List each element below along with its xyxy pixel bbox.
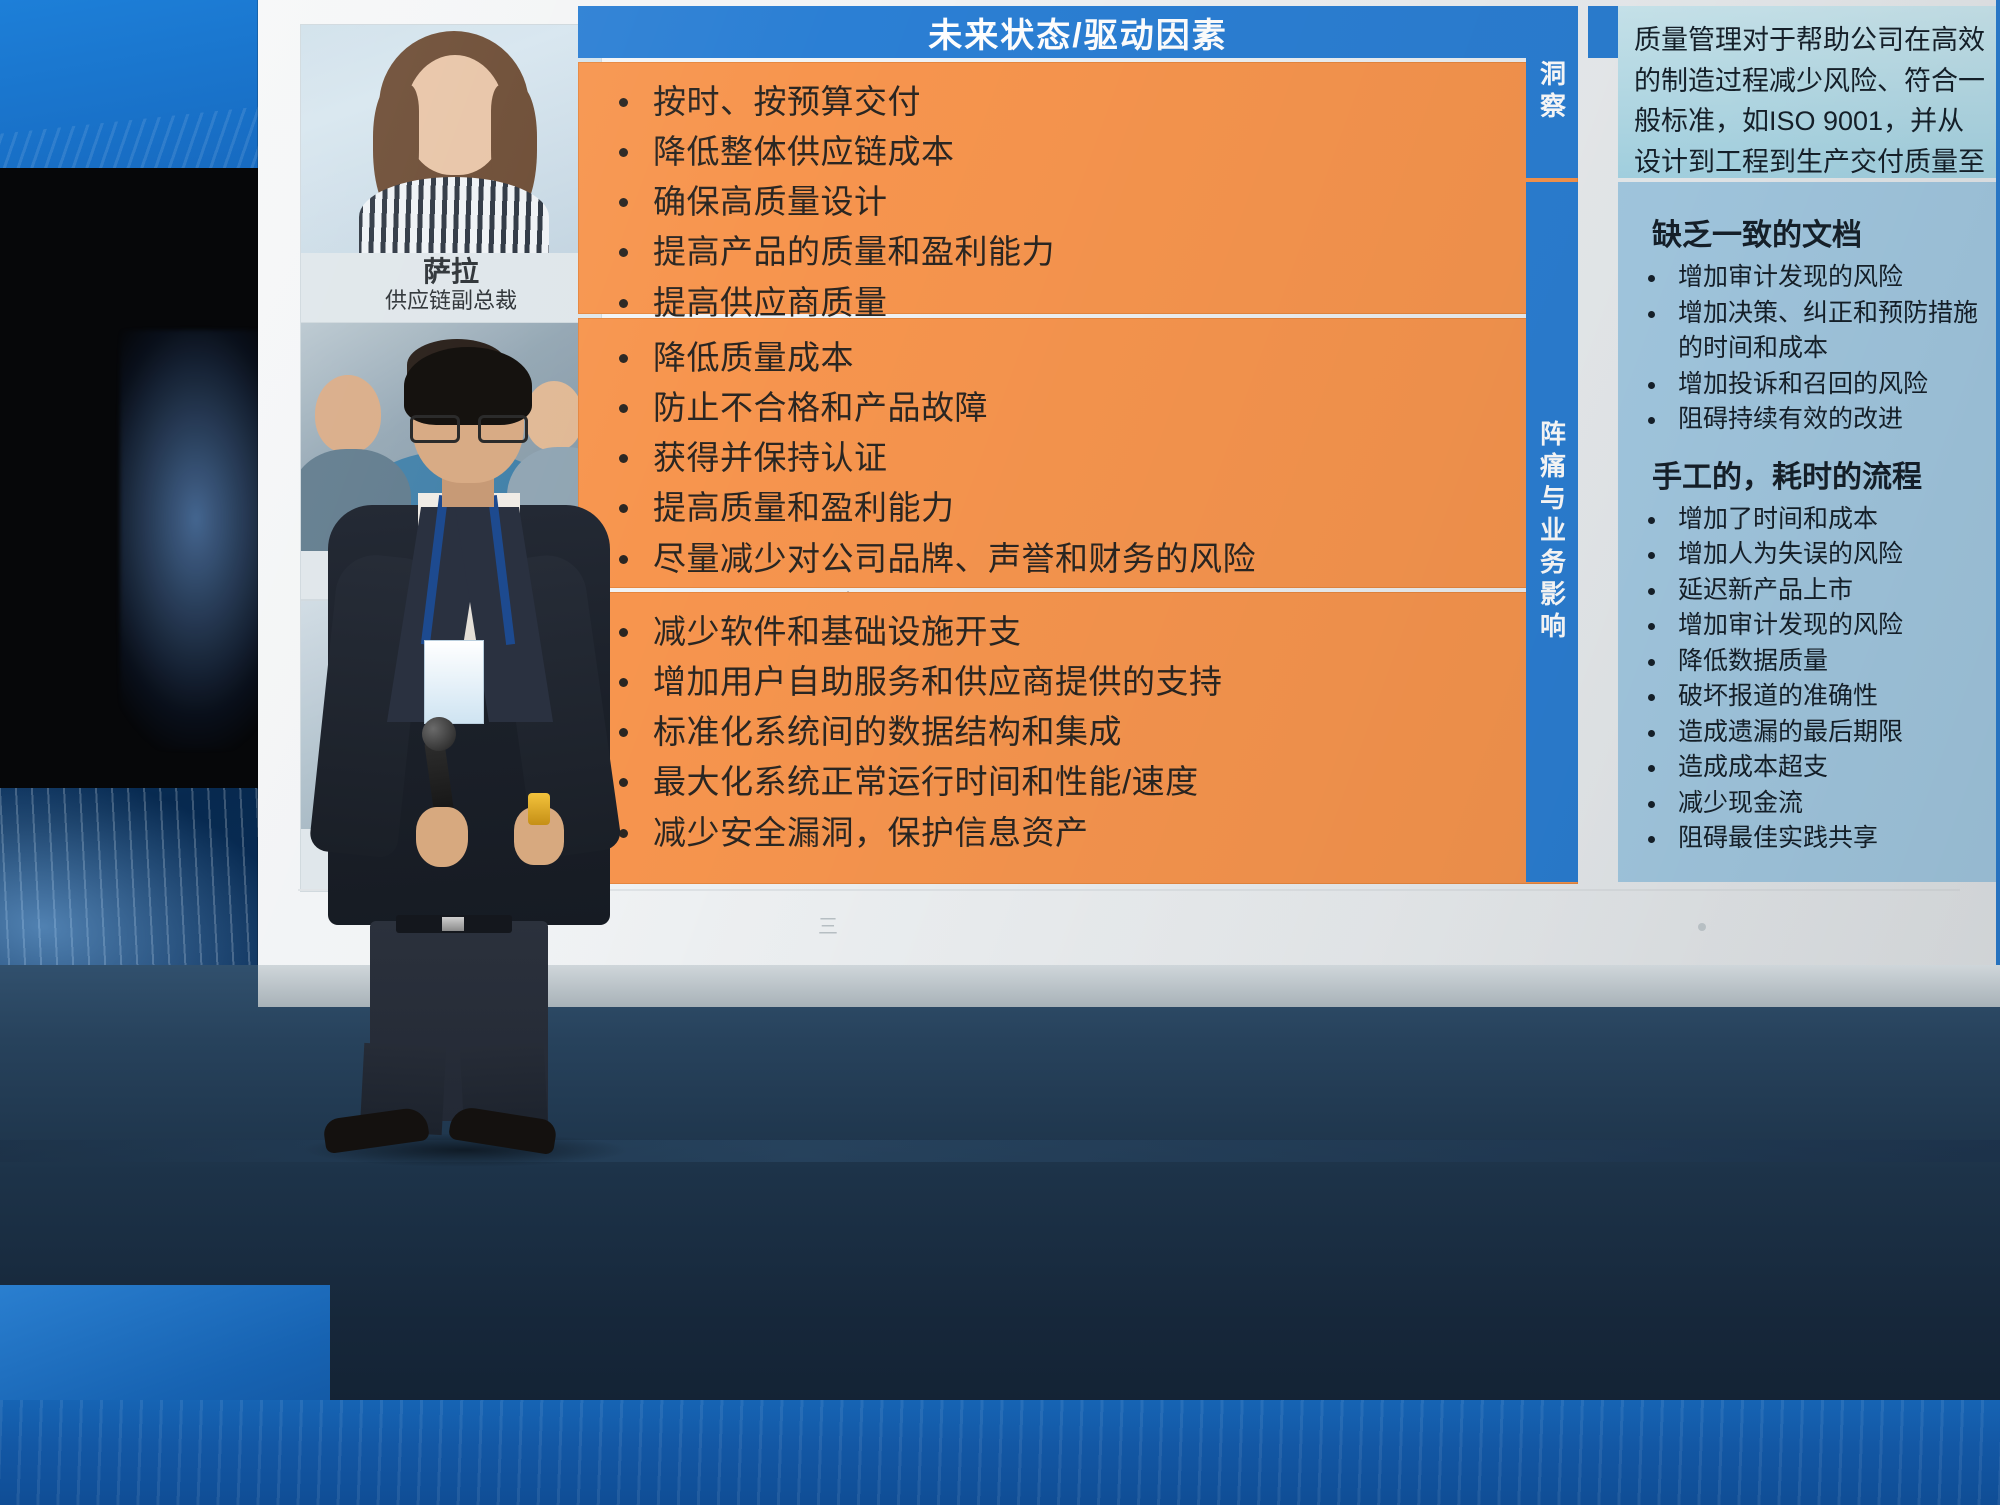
stage-front-blue-strip bbox=[0, 1400, 2000, 1505]
presentation-clicker-icon bbox=[528, 793, 550, 825]
presenter bbox=[300, 355, 640, 1145]
vertical-label-pain-impact: 阵痛与业务影响 bbox=[1526, 182, 1578, 882]
stage-photo: 萨拉 供应链副总裁 克里斯 bbox=[0, 0, 2000, 1505]
pain-section-heading: 缺乏一致的文档 bbox=[1652, 210, 1986, 254]
bullet: 造成成本超支 bbox=[1634, 750, 1986, 786]
bullet: 增加了时间和成本 bbox=[1634, 502, 1986, 538]
presenter-belt-buckle bbox=[442, 917, 464, 931]
bullet: 阻碍持续有效的改进 bbox=[1634, 402, 1986, 438]
presenter-badge bbox=[424, 640, 484, 724]
persona-title: 供应链副总裁 bbox=[301, 288, 601, 313]
column-header-future-state: 未来状态/驱动因素 bbox=[578, 6, 1578, 58]
persona-photo bbox=[301, 25, 601, 253]
bullet: 增加决策、纠正和预防措施的时间和成本 bbox=[1634, 296, 1986, 367]
bullet: 获得并保持认证 bbox=[605, 433, 1559, 483]
bullet: 降低数据质量 bbox=[1634, 644, 1986, 680]
persona-caption: 萨拉 供应链副总裁 bbox=[301, 257, 601, 313]
bullet: 最大化系统正常运行时间和性能/速度 bbox=[605, 757, 1559, 807]
bullet: 减少软件和基础设施开支 bbox=[605, 607, 1559, 657]
bullet: 减少安全漏洞，保护信息资产 bbox=[605, 808, 1559, 858]
slide-footer-mark: 三 bbox=[818, 910, 838, 939]
pain-section-list: 增加了时间和成本 增加人为失误的风险 延迟新产品上市 增加审计发现的风险 降低数… bbox=[1634, 502, 1986, 857]
pain-impact-panel: 缺乏一致的文档 增加审计发现的风险 增加决策、纠正和预防措施的时间和成本 增加投… bbox=[1618, 182, 1996, 882]
pain-section-heading: 手工的，耗时的流程 bbox=[1652, 452, 1986, 496]
presenter-hand-left bbox=[416, 807, 468, 867]
bullet: 增加投诉和召回的风险 bbox=[1634, 367, 1986, 403]
bullet: 防止不合格和产品故障 bbox=[605, 383, 1559, 433]
bullet: 增加用户自助服务和供应商提供的支持 bbox=[605, 657, 1559, 707]
bullet: 按时、按预算交付 bbox=[605, 77, 1559, 127]
future-state-cell-quality: 降低质量成本 防止不合格和产品故障 获得并保持认证 提高质量和盈利能力 尽量减少… bbox=[578, 318, 1578, 588]
future-state-cell-it: 减少软件和基础设施开支 增加用户自助服务和供应商提供的支持 标准化系统间的数据结… bbox=[578, 592, 1578, 884]
bullet: 延迟新产品上市 bbox=[1634, 573, 1986, 609]
slide-right-gutter bbox=[1996, 0, 2000, 965]
presenter-lanyard bbox=[420, 495, 516, 645]
insight-panel: 质量管理对于帮助公司在高效的制造过程减少风险、符合一般标准，如ISO 9001，… bbox=[1618, 6, 1996, 178]
vertical-label-insight: 洞察 bbox=[1526, 6, 1578, 178]
slide-footer-dot bbox=[1698, 923, 1706, 931]
bullet: 降低质量成本 bbox=[605, 333, 1559, 383]
bullet: 提高产品的质量和盈利能力 bbox=[605, 227, 1559, 277]
bullet: 增加审计发现的风险 bbox=[1634, 608, 1986, 644]
bullet: 减少现金流 bbox=[1634, 786, 1986, 822]
bullet: 增加审计发现的风险 bbox=[1634, 260, 1986, 296]
bullet: 尽量减少对公司品牌、声誉和财务的风险 bbox=[605, 534, 1559, 584]
bullet: 造成遗漏的最后期限 bbox=[1634, 715, 1986, 751]
bullet: 确保高质量设计 bbox=[605, 177, 1559, 227]
glasses-icon bbox=[410, 415, 528, 437]
bullet: 提高质量和盈利能力 bbox=[605, 483, 1559, 533]
bullet: 破坏报道的准确性 bbox=[1634, 679, 1986, 715]
bullet: 阻碍最佳实践共享 bbox=[1634, 821, 1986, 857]
bullet: 标准化系统间的数据结构和集成 bbox=[605, 707, 1559, 757]
bullet: 增加人为失误的风险 bbox=[1634, 537, 1986, 573]
pain-section-list: 增加审计发现的风险 增加决策、纠正和预防措施的时间和成本 增加投诉和召回的风险 … bbox=[1634, 260, 1986, 438]
persona-card: 萨拉 供应链副总裁 bbox=[300, 24, 602, 326]
insight-text: 质量管理对于帮助公司在高效的制造过程减少风险、符合一般标准，如ISO 9001，… bbox=[1634, 20, 1986, 178]
persona-name: 萨拉 bbox=[301, 257, 601, 288]
bullet: 降低整体供应链成本 bbox=[605, 127, 1559, 177]
future-state-cell-supply-chain: 按时、按预算交付 降低整体供应链成本 确保高质量设计 提高产品的质量和盈利能力 … bbox=[578, 62, 1578, 314]
presenter-hair bbox=[404, 347, 532, 425]
